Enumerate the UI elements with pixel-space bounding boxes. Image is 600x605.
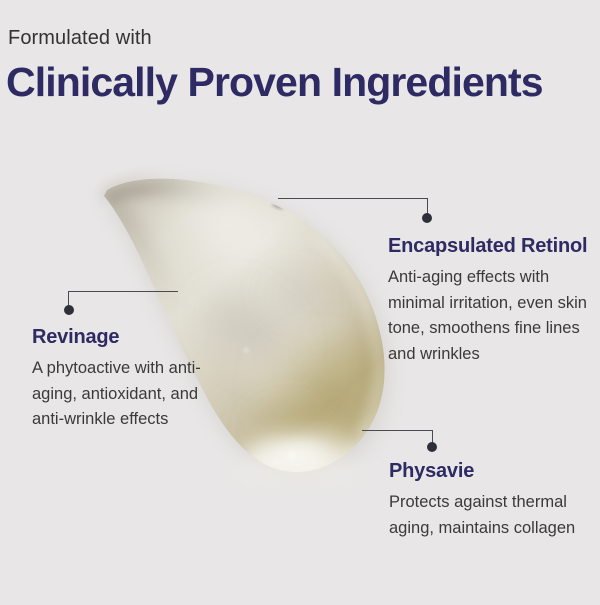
callout-title: Revinage	[32, 326, 232, 349]
connector-horizontal-line	[278, 198, 428, 199]
callout-encapsulated-retinol: Encapsulated Retinol Anti-aging effects …	[388, 235, 600, 367]
page-title: Clinically Proven Ingredients	[6, 61, 543, 104]
connector-dot	[427, 442, 437, 452]
connector-revinage	[64, 291, 179, 323]
callout-body: A phytoactive with anti-aging, antioxida…	[32, 356, 232, 433]
ingredients-infographic: Formulated with Clinically Proven Ingred…	[0, 0, 600, 600]
swatch-tip-wisp	[100, 176, 168, 200]
callout-title: Physavie	[389, 460, 589, 483]
connector-horizontal-line	[68, 291, 178, 292]
callout-revinage: Revinage A phytoactive with anti-aging, …	[32, 326, 232, 433]
callout-body: Protects against thermal aging, maintain…	[389, 490, 589, 541]
connector-dot	[64, 305, 74, 315]
connector-encapsulated-retinol	[278, 198, 433, 230]
connector-dot	[422, 213, 432, 223]
callout-physavie: Physavie Protects against thermal aging,…	[389, 460, 589, 541]
eyebrow-text: Formulated with	[8, 28, 152, 48]
callout-title: Encapsulated Retinol	[388, 235, 600, 258]
connector-physavie	[362, 430, 442, 460]
connector-horizontal-line	[362, 430, 433, 431]
callout-body: Anti-aging effects with minimal irritati…	[388, 265, 600, 367]
swatch-bottom-halo	[236, 454, 360, 486]
